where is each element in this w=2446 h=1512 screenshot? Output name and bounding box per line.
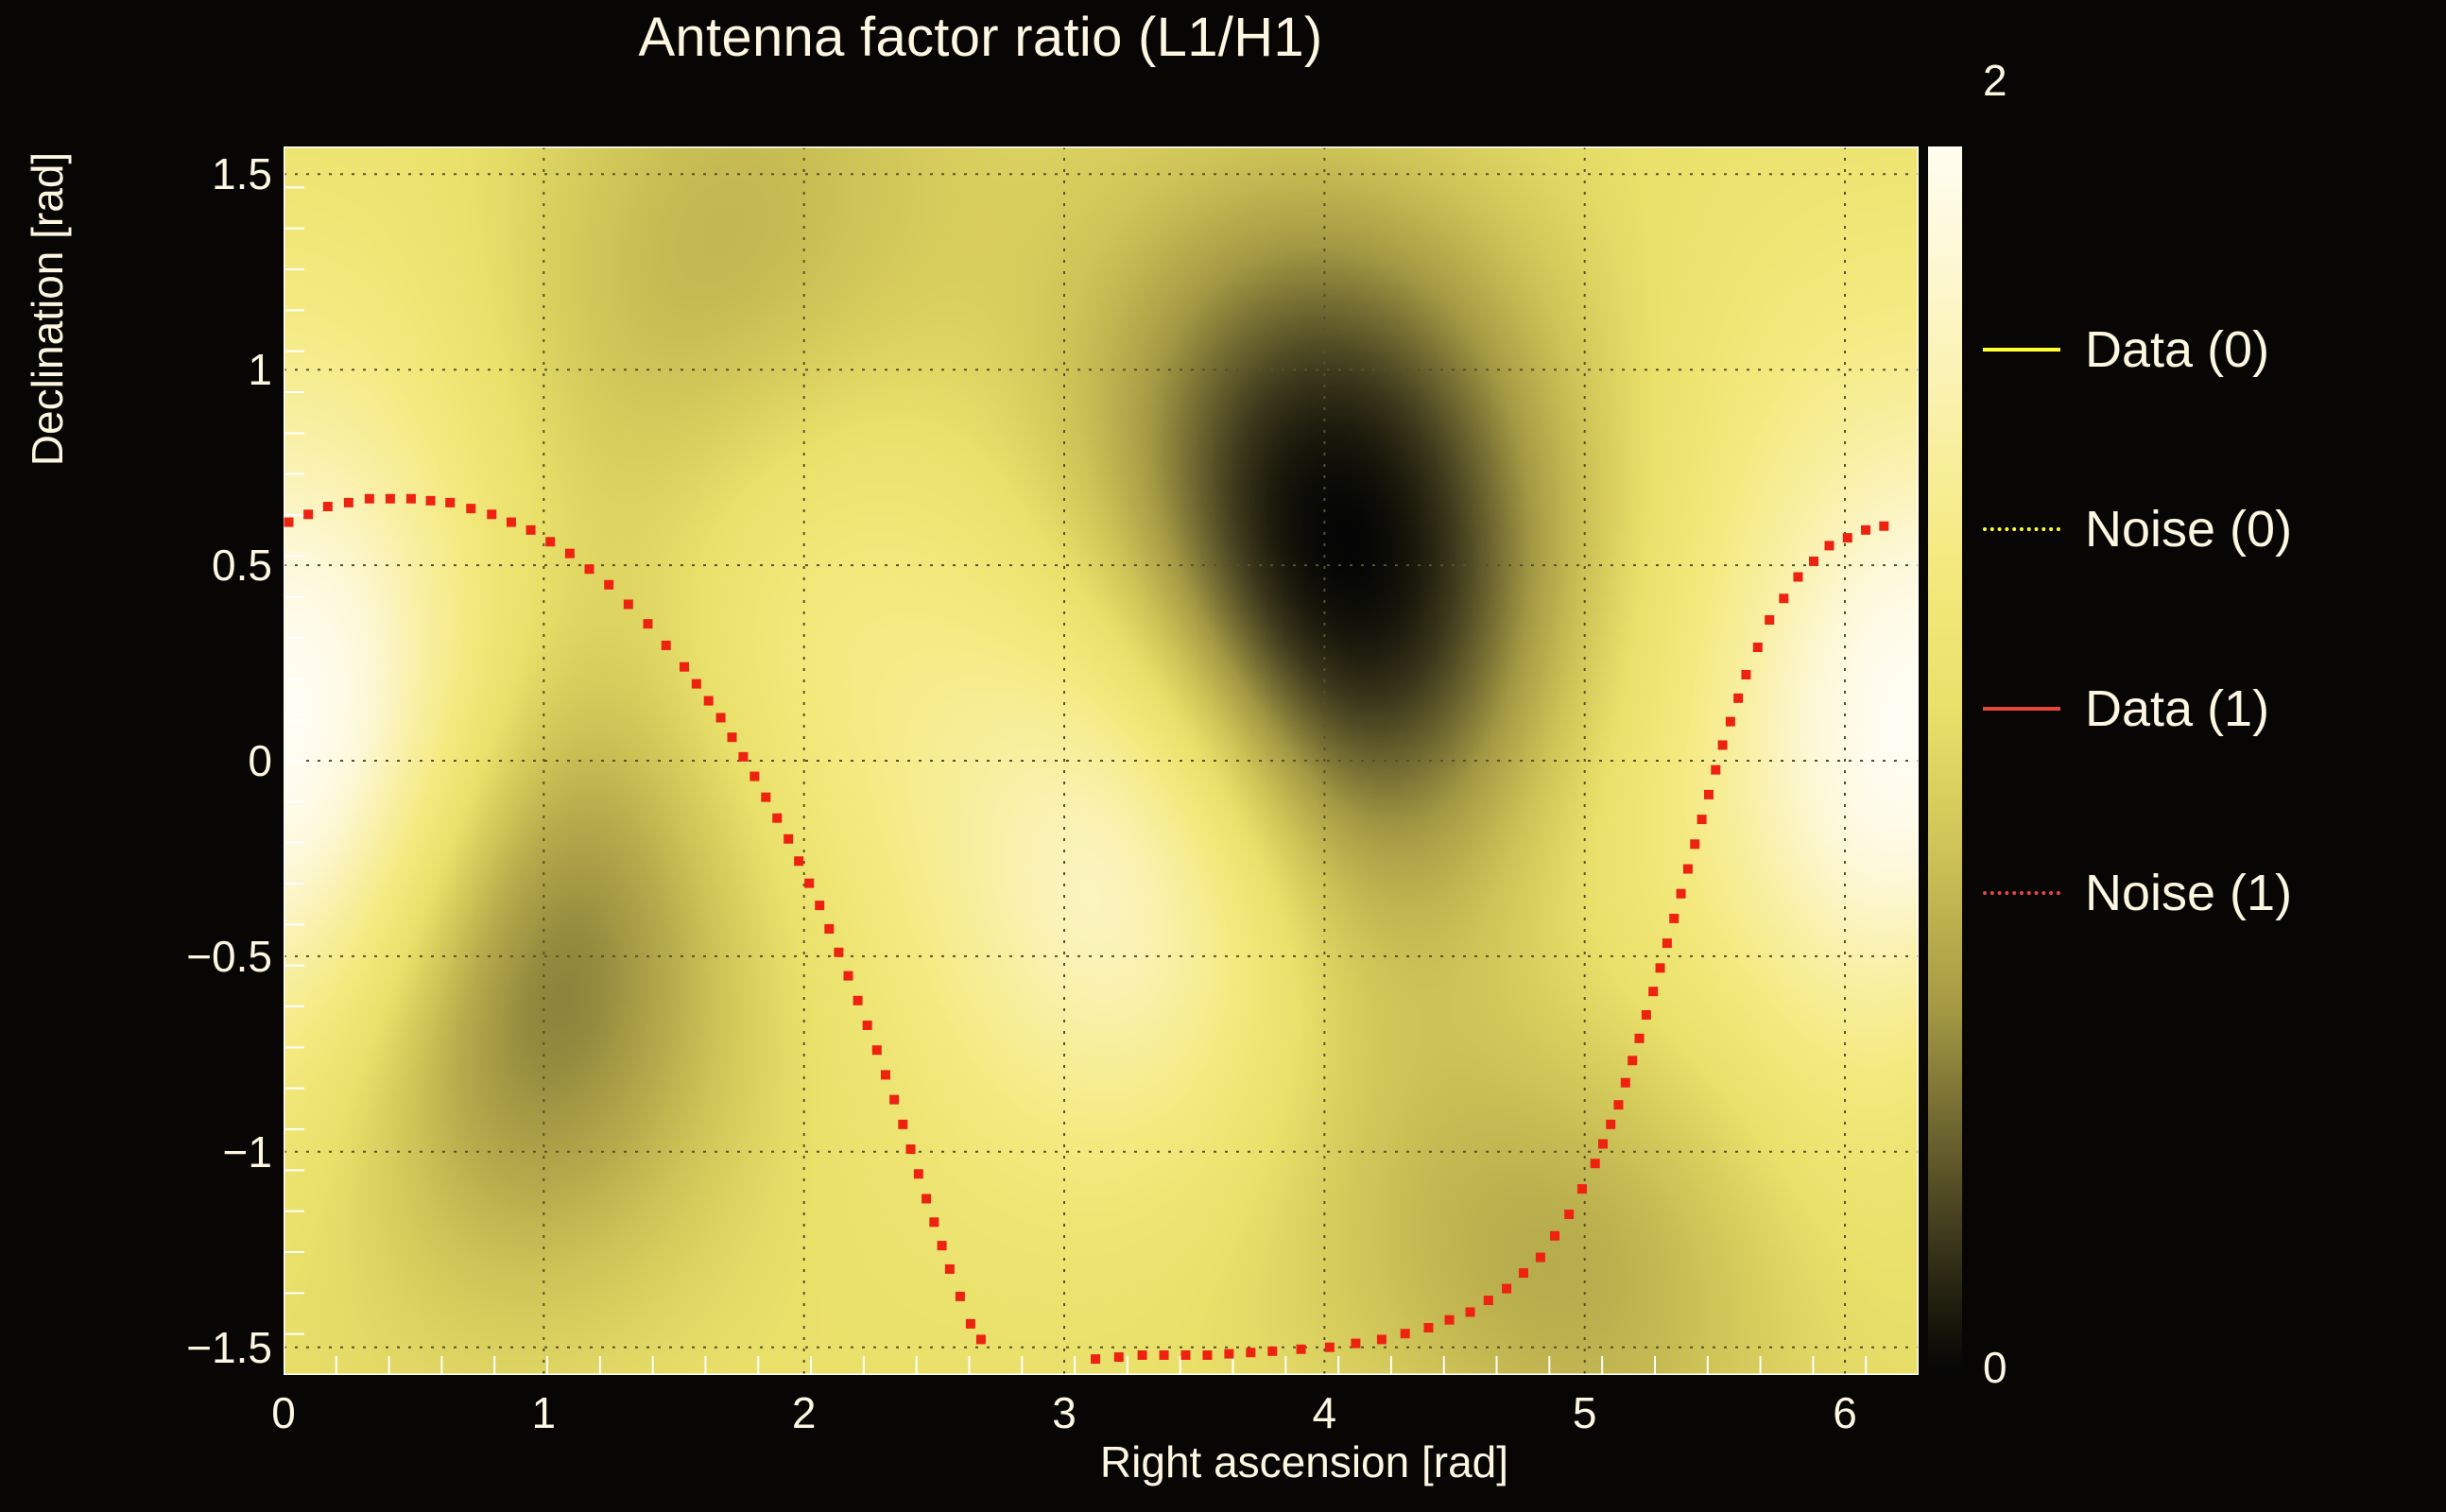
x-axis-title: Right ascension [rad]: [973, 1436, 1635, 1487]
curve-marker: [956, 1292, 965, 1301]
y-axis-ticks: 1.510.50−0.5−1−1.5: [142, 146, 272, 1375]
curve-marker: [881, 1070, 890, 1079]
y-tick-label: 0: [248, 735, 272, 786]
curve-marker: [1181, 1350, 1191, 1360]
x-tick-label: 3: [1052, 1387, 1077, 1438]
curve-marker: [426, 496, 436, 506]
y-tick-label: 1.5: [212, 148, 272, 199]
curve-marker: [938, 1241, 947, 1250]
curve-marker: [1502, 1284, 1511, 1294]
curve-marker: [784, 834, 793, 844]
curve-marker: [445, 498, 455, 507]
curve-marker: [1160, 1350, 1169, 1360]
curve-marker: [1628, 1056, 1637, 1065]
overlay-curves: [284, 146, 1919, 1375]
curve-marker: [1401, 1329, 1410, 1338]
legend-item-label: Data (0): [2085, 324, 2269, 375]
curve-marker: [1613, 1100, 1623, 1109]
curve-marker: [1536, 1253, 1545, 1263]
curve-marker: [1484, 1296, 1493, 1305]
overlay-curve: [1091, 522, 1888, 1364]
curve-marker: [1138, 1350, 1147, 1360]
legend: Data (0)Noise (0)Data (1)Noise (1): [1983, 142, 2446, 1380]
curve-marker: [1843, 533, 1852, 542]
curve-marker: [1246, 1348, 1255, 1357]
curve-marker: [1809, 557, 1818, 566]
legend-item[interactable]: Noise (1): [1983, 860, 2446, 926]
curve-marker: [1861, 525, 1870, 535]
curve-marker: [1683, 864, 1693, 873]
curve-marker: [1564, 1210, 1574, 1219]
curve-marker: [1224, 1349, 1233, 1359]
x-tick-label: 1: [532, 1387, 557, 1438]
curve-marker: [906, 1144, 916, 1154]
curve-marker: [604, 580, 613, 590]
curve-marker: [966, 1319, 975, 1329]
curve-marker: [507, 518, 516, 527]
x-tick-label: 5: [1573, 1387, 1597, 1438]
plot-canvas: Antenna factor ratio (L1/H1) Declination…: [0, 0, 2446, 1512]
legend-item[interactable]: Data (1): [1983, 676, 2446, 742]
curve-marker: [853, 996, 863, 1005]
y-tick-label: −1.5: [186, 1322, 272, 1373]
curve-marker: [1677, 889, 1686, 899]
curve-marker: [323, 502, 333, 511]
curve-marker: [1297, 1345, 1306, 1354]
curve-marker: [1267, 1347, 1277, 1356]
x-tick-label: 6: [1833, 1387, 1857, 1438]
curve-marker: [1423, 1323, 1433, 1332]
curve-marker: [1091, 1354, 1100, 1364]
curve-marker: [761, 793, 770, 802]
curve-marker: [749, 772, 759, 782]
colorbar: [1928, 146, 1962, 1375]
curve-marker: [716, 713, 726, 722]
curve-marker: [406, 494, 416, 504]
curve-marker: [794, 856, 803, 866]
curve-marker: [1114, 1352, 1124, 1362]
curve-marker: [872, 1045, 882, 1055]
curve-marker: [1669, 914, 1679, 923]
curve-marker: [1519, 1268, 1528, 1278]
curve-marker: [929, 1217, 939, 1227]
curve-marker: [863, 1021, 872, 1030]
curve-marker: [898, 1120, 907, 1129]
curve-marker: [1635, 1034, 1645, 1043]
curve-marker: [1690, 839, 1699, 849]
curve-marker: [824, 924, 834, 934]
curve-marker: [1793, 573, 1802, 582]
curve-marker: [1466, 1307, 1475, 1316]
curve-marker: [1662, 938, 1672, 948]
curve-marker: [976, 1334, 986, 1344]
curve-marker: [738, 752, 748, 762]
curve-marker: [727, 732, 736, 742]
curve-marker: [922, 1194, 931, 1203]
colorbar-max-label: 2: [1983, 55, 2007, 106]
curve-marker: [843, 971, 853, 981]
curve-marker: [1351, 1339, 1360, 1349]
curve-marker: [1591, 1159, 1600, 1168]
y-tick-label: 1: [248, 344, 272, 395]
curve-marker: [889, 1095, 899, 1105]
curve-marker: [565, 549, 575, 558]
curve-marker: [1577, 1184, 1587, 1194]
legend-item-label: Noise (1): [2085, 868, 2292, 919]
overlay-curve: [284, 494, 986, 1345]
curve-marker: [834, 948, 843, 957]
curve-marker: [344, 498, 353, 507]
curve-marker: [1606, 1120, 1615, 1129]
curve-marker: [1621, 1078, 1630, 1088]
curve-marker: [1445, 1315, 1455, 1325]
page-title: Antenna factor ratio (L1/H1): [0, 6, 1961, 69]
y-axis-title: Declination [rad]: [22, 26, 73, 593]
legend-item-label: Noise (0): [2085, 504, 2292, 555]
y-tick-label: −1: [223, 1126, 272, 1177]
curve-marker: [1733, 694, 1743, 703]
x-tick-label: 4: [1313, 1387, 1337, 1438]
curve-marker: [386, 494, 395, 504]
curve-marker: [704, 696, 714, 706]
curve-marker: [526, 525, 536, 535]
y-tick-label: 0.5: [212, 540, 272, 591]
curve-marker: [1642, 1010, 1651, 1020]
curve-marker: [365, 494, 374, 504]
legend-item[interactable]: Data (0): [1983, 317, 2446, 383]
curve-marker: [692, 679, 701, 689]
curve-marker: [545, 537, 555, 546]
curve-marker: [1550, 1231, 1559, 1241]
curve-marker: [945, 1264, 955, 1274]
curve-marker: [1704, 790, 1714, 799]
curve-marker: [487, 509, 496, 519]
curve-marker: [1656, 963, 1665, 972]
curve-marker: [1753, 643, 1763, 652]
curve-marker: [1697, 815, 1707, 824]
curve-marker: [914, 1169, 923, 1178]
curve-marker: [662, 641, 671, 650]
x-axis-ticks: 0123456: [284, 1387, 1919, 1444]
curve-marker: [1741, 670, 1750, 679]
curve-marker: [303, 509, 313, 519]
curve-marker: [1879, 522, 1888, 531]
legend-item-label: Data (1): [2085, 683, 2269, 734]
curve-marker: [1779, 593, 1788, 603]
curve-marker: [1598, 1140, 1608, 1149]
curve-marker: [466, 504, 475, 513]
curve-marker: [1718, 740, 1728, 749]
curve-marker: [1325, 1343, 1335, 1352]
legend-item[interactable]: Noise (0): [1983, 496, 2446, 562]
curve-marker: [1202, 1350, 1212, 1360]
curve-marker: [1711, 765, 1720, 775]
curve-marker: [804, 879, 814, 888]
curve-marker: [772, 814, 782, 823]
y-tick-label: −0.5: [186, 931, 272, 982]
curve-marker: [1825, 541, 1834, 550]
curve-marker: [1377, 1334, 1387, 1344]
curve-marker: [1765, 615, 1774, 625]
curve-marker: [624, 599, 633, 609]
curve-marker: [1648, 987, 1658, 996]
x-tick-label: 2: [792, 1387, 817, 1438]
x-tick-label: 0: [271, 1387, 296, 1438]
curve-marker: [643, 619, 652, 628]
curve-marker: [680, 662, 689, 672]
curve-marker: [284, 518, 294, 527]
heatmap-plot-area[interactable]: [284, 146, 1919, 1375]
curve-marker: [585, 564, 594, 574]
curve-marker: [1726, 717, 1735, 727]
curve-marker: [815, 901, 824, 910]
